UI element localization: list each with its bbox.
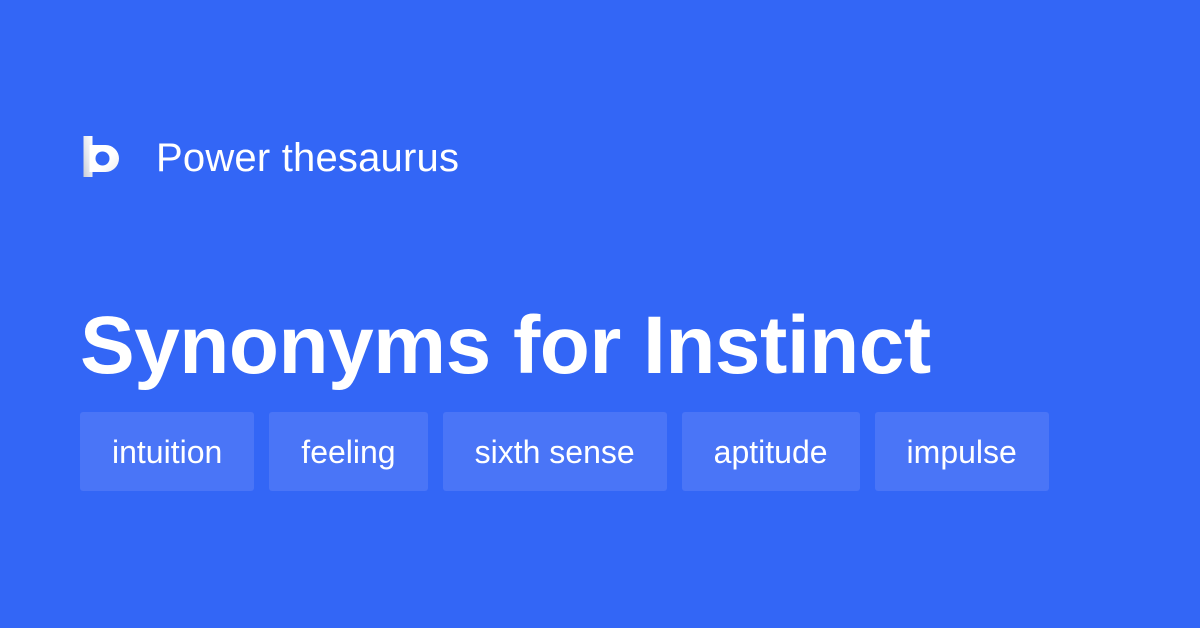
- synonym-chip[interactable]: intuition: [80, 412, 254, 491]
- power-thesaurus-b-logo-icon: [80, 133, 130, 183]
- synonym-chip-list: intuition feeling sixth sense aptitude i…: [80, 412, 1140, 491]
- synonym-chip[interactable]: impulse: [875, 412, 1049, 491]
- synonym-chip[interactable]: feeling: [269, 412, 427, 491]
- brand-header[interactable]: Power thesaurus: [80, 122, 459, 194]
- synonym-chip[interactable]: sixth sense: [443, 412, 667, 491]
- brand-name: Power thesaurus: [156, 138, 459, 178]
- page-title: Synonyms for Instinct: [80, 298, 1120, 394]
- open-graph-card: Power thesaurus Synonyms for Instinct in…: [0, 0, 1200, 628]
- synonym-chip[interactable]: aptitude: [682, 412, 860, 491]
